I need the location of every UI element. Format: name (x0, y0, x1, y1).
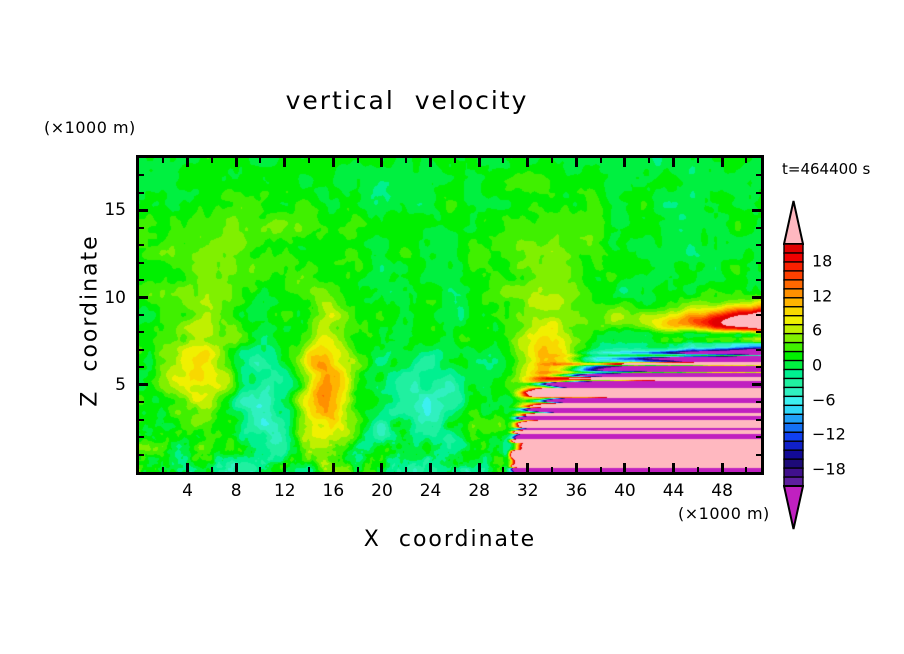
colorbar-segment (784, 289, 803, 298)
colorbar-segment (784, 441, 803, 450)
x-tick-major (332, 463, 335, 472)
colorbar-segment (784, 307, 803, 316)
x-tick-major (235, 463, 238, 472)
x-tick-label: 4 (182, 481, 193, 501)
x-tick-major (623, 463, 626, 472)
x-tick-major (672, 463, 675, 472)
y-tick-minor (139, 314, 144, 316)
colorbar-segment (784, 396, 803, 405)
x-tick-minor-top (502, 158, 504, 163)
x-tick-minor (600, 467, 602, 472)
y-tick-minor-right (756, 349, 761, 351)
y-axis-title: Z coordinate (78, 181, 103, 461)
y-tick-minor (139, 331, 144, 333)
x-tick-minor-top (162, 158, 164, 163)
x-tick-minor-top (454, 158, 456, 163)
colorbar-tick-label: 12 (812, 286, 832, 305)
y-tick-major-right (752, 383, 761, 386)
x-tick-major (429, 463, 432, 472)
x-tick-major-top (575, 158, 578, 167)
colorbar (783, 200, 804, 530)
y-tick-minor-right (756, 314, 761, 316)
x-tick-label: 48 (711, 481, 733, 501)
y-tick-major-right (752, 296, 761, 299)
y-tick-minor-right (756, 262, 761, 264)
y-tick-major (139, 383, 148, 386)
x-tick-major-top (721, 158, 724, 167)
x-tick-major (186, 463, 189, 472)
y-tick-major-right (752, 209, 761, 212)
x-tick-minor-top (745, 158, 747, 163)
colorbar-segment (784, 271, 803, 280)
colorbar-segment (784, 378, 803, 387)
y-tick-label: 5 (92, 375, 126, 395)
y-tick-minor-right (756, 436, 761, 438)
y-tick-minor-right (756, 279, 761, 281)
colorbar-under-cap (784, 486, 803, 529)
colorbar-segment (784, 405, 803, 414)
x-tick-major (283, 463, 286, 472)
x-tick-minor-top (211, 158, 213, 163)
y-tick-minor-right (756, 244, 761, 246)
colorbar-tick-label: −6 (812, 390, 836, 409)
x-tick-label: 24 (420, 481, 442, 501)
colorbar-segment (784, 343, 803, 352)
timestamp-annotation: t=464400 s (782, 160, 870, 178)
colorbar-segment (784, 459, 803, 468)
x-tick-minor (648, 467, 650, 472)
x-tick-minor (308, 467, 310, 472)
x-tick-minor (357, 467, 359, 472)
colorbar-segment (784, 325, 803, 334)
colorbar-segment (784, 387, 803, 396)
x-tick-minor (502, 467, 504, 472)
x-tick-minor-top (648, 158, 650, 163)
x-tick-minor-top (259, 158, 261, 163)
colorbar-segment (784, 298, 803, 307)
y-tick-minor (139, 279, 144, 281)
x-tick-major (575, 463, 578, 472)
y-tick-minor-right (756, 366, 761, 368)
y-tick-minor-right (756, 192, 761, 194)
x-tick-minor (454, 467, 456, 472)
colorbar-segment (784, 316, 803, 325)
y-tick-minor (139, 262, 144, 264)
x-tick-minor-top (600, 158, 602, 163)
figure-root: vertical velocity (×1000 m) (×1000 m) X … (0, 0, 904, 654)
colorbar-tick-label: 18 (812, 252, 832, 271)
y-tick-label: 10 (92, 288, 126, 308)
x-tick-minor (551, 467, 553, 472)
x-tick-minor-top (357, 158, 359, 163)
colorbar-segment (784, 369, 803, 378)
x-tick-label: 36 (566, 481, 588, 501)
colorbar-segment (784, 414, 803, 423)
x-tick-major-top (283, 158, 286, 167)
colorbar-segment (784, 262, 803, 271)
x-tick-label: 40 (614, 481, 636, 501)
y-tick-major (139, 296, 148, 299)
x-tick-minor (162, 467, 164, 472)
colorbar-tick-label: −12 (812, 425, 846, 444)
colorbar-tick-label: 0 (812, 356, 822, 375)
x-tick-minor-top (551, 158, 553, 163)
colorbar-segment (784, 334, 803, 343)
colorbar-segment (784, 468, 803, 477)
contour-field (139, 158, 761, 472)
x-tick-label: 28 (468, 481, 490, 501)
x-tick-label: 8 (231, 481, 242, 501)
colorbar-segment (784, 432, 803, 441)
colorbar-over-cap (784, 201, 803, 244)
x-tick-major-top (429, 158, 432, 167)
y-tick-minor-right (756, 401, 761, 403)
x-tick-major-top (235, 158, 238, 167)
colorbar-segment (784, 253, 803, 262)
x-tick-major-top (623, 158, 626, 167)
y-tick-minor (139, 419, 144, 421)
y-tick-minor-right (756, 227, 761, 229)
colorbar-segment (784, 477, 803, 486)
y-tick-minor-right (756, 331, 761, 333)
x-tick-label: 44 (663, 481, 685, 501)
x-tick-minor-top (405, 158, 407, 163)
x-tick-major (526, 463, 529, 472)
x-tick-label: 12 (274, 481, 296, 501)
x-tick-major-top (672, 158, 675, 167)
colorbar-segment (784, 352, 803, 361)
contour-plot-area (136, 155, 764, 475)
page-title: vertical velocity (0, 86, 859, 115)
colorbar-segment (784, 361, 803, 370)
y-tick-minor (139, 349, 144, 351)
x-tick-major-top (478, 158, 481, 167)
colorbar-swatches (783, 200, 804, 530)
y-tick-minor (139, 174, 144, 176)
x-tick-minor (697, 467, 699, 472)
y-tick-minor (139, 366, 144, 368)
x-tick-major (721, 463, 724, 472)
x-tick-label: 16 (323, 481, 345, 501)
x-axis-title: X coordinate (136, 527, 764, 552)
x-tick-minor-top (308, 158, 310, 163)
colorbar-segment (784, 450, 803, 459)
y-tick-minor-right (756, 419, 761, 421)
x-tick-minor-top (697, 158, 699, 163)
y-tick-minor (139, 436, 144, 438)
colorbar-segment (784, 244, 803, 253)
x-tick-major (478, 463, 481, 472)
y-tick-minor-right (756, 174, 761, 176)
x-tick-minor (259, 467, 261, 472)
x-tick-major-top (332, 158, 335, 167)
y-tick-minor (139, 244, 144, 246)
colorbar-segment (784, 280, 803, 289)
y-tick-minor-right (756, 454, 761, 456)
y-tick-minor (139, 227, 144, 229)
colorbar-tick-label: 6 (812, 321, 822, 340)
x-tick-minor (211, 467, 213, 472)
colorbar-segment (784, 423, 803, 432)
x-axis-unit-label: (×1000 m) (678, 504, 770, 523)
y-tick-label: 15 (92, 200, 126, 220)
x-tick-major-top (526, 158, 529, 167)
x-tick-label: 20 (371, 481, 393, 501)
colorbar-tick-label: −18 (812, 459, 846, 478)
x-tick-major-top (186, 158, 189, 167)
x-tick-major (380, 463, 383, 472)
y-axis-unit-label: (×1000 m) (44, 118, 136, 137)
y-tick-minor (139, 401, 144, 403)
x-tick-minor (745, 467, 747, 472)
x-tick-minor (405, 467, 407, 472)
x-tick-label: 32 (517, 481, 539, 501)
x-tick-major-top (380, 158, 383, 167)
y-tick-minor (139, 454, 144, 456)
y-tick-major (139, 209, 148, 212)
y-tick-minor (139, 192, 144, 194)
